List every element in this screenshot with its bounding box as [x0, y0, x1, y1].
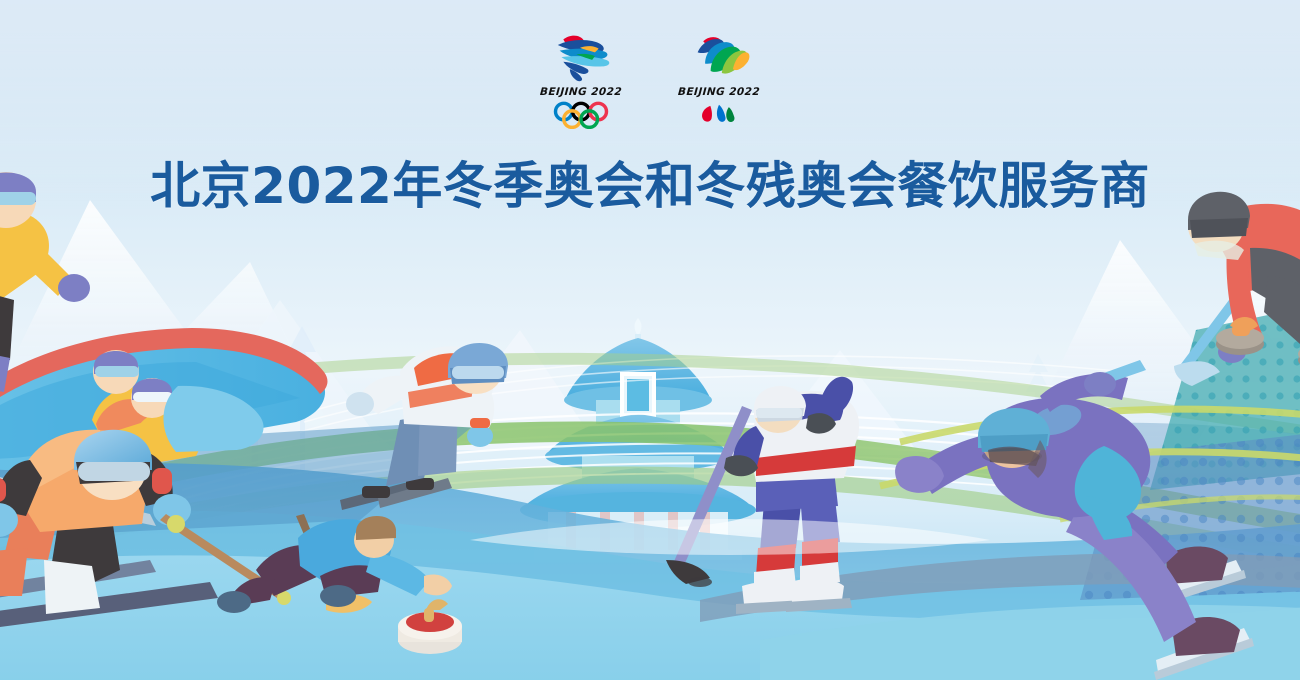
- beijing-2022-catering-banner: BEIJING 2022 BEIJING 20: [0, 0, 1300, 680]
- long-track-speed-skater: [895, 374, 1254, 680]
- page-title: 北京2022年冬季奥会和冬残奥会餐饮服务商: [0, 146, 1300, 218]
- short-track-speed-skater: [340, 343, 508, 510]
- winter-dream-dong-icon: [538, 32, 624, 84]
- paralympic-wordmark: BEIJING 2022: [678, 86, 761, 98]
- emblem-row: BEIJING 2022 BEIJING 20: [0, 32, 1300, 129]
- curler-sweeping: [1084, 192, 1300, 396]
- beijing-2022-olympic-emblem: BEIJING 2022: [535, 32, 627, 129]
- foreground-mist: [470, 519, 990, 555]
- leap-fei-icon: [676, 32, 762, 84]
- paralympic-agitos-icon: [693, 102, 745, 126]
- ice-hockey-player: [666, 377, 859, 614]
- olympic-wordmark: BEIJING 2022: [540, 86, 623, 98]
- curler-delivering-stone: [217, 514, 462, 654]
- olympic-rings-icon: [550, 101, 612, 129]
- beijing-2022-paralympic-emblem: BEIJING 2022: [673, 32, 765, 126]
- curling-stone-red: [398, 599, 462, 654]
